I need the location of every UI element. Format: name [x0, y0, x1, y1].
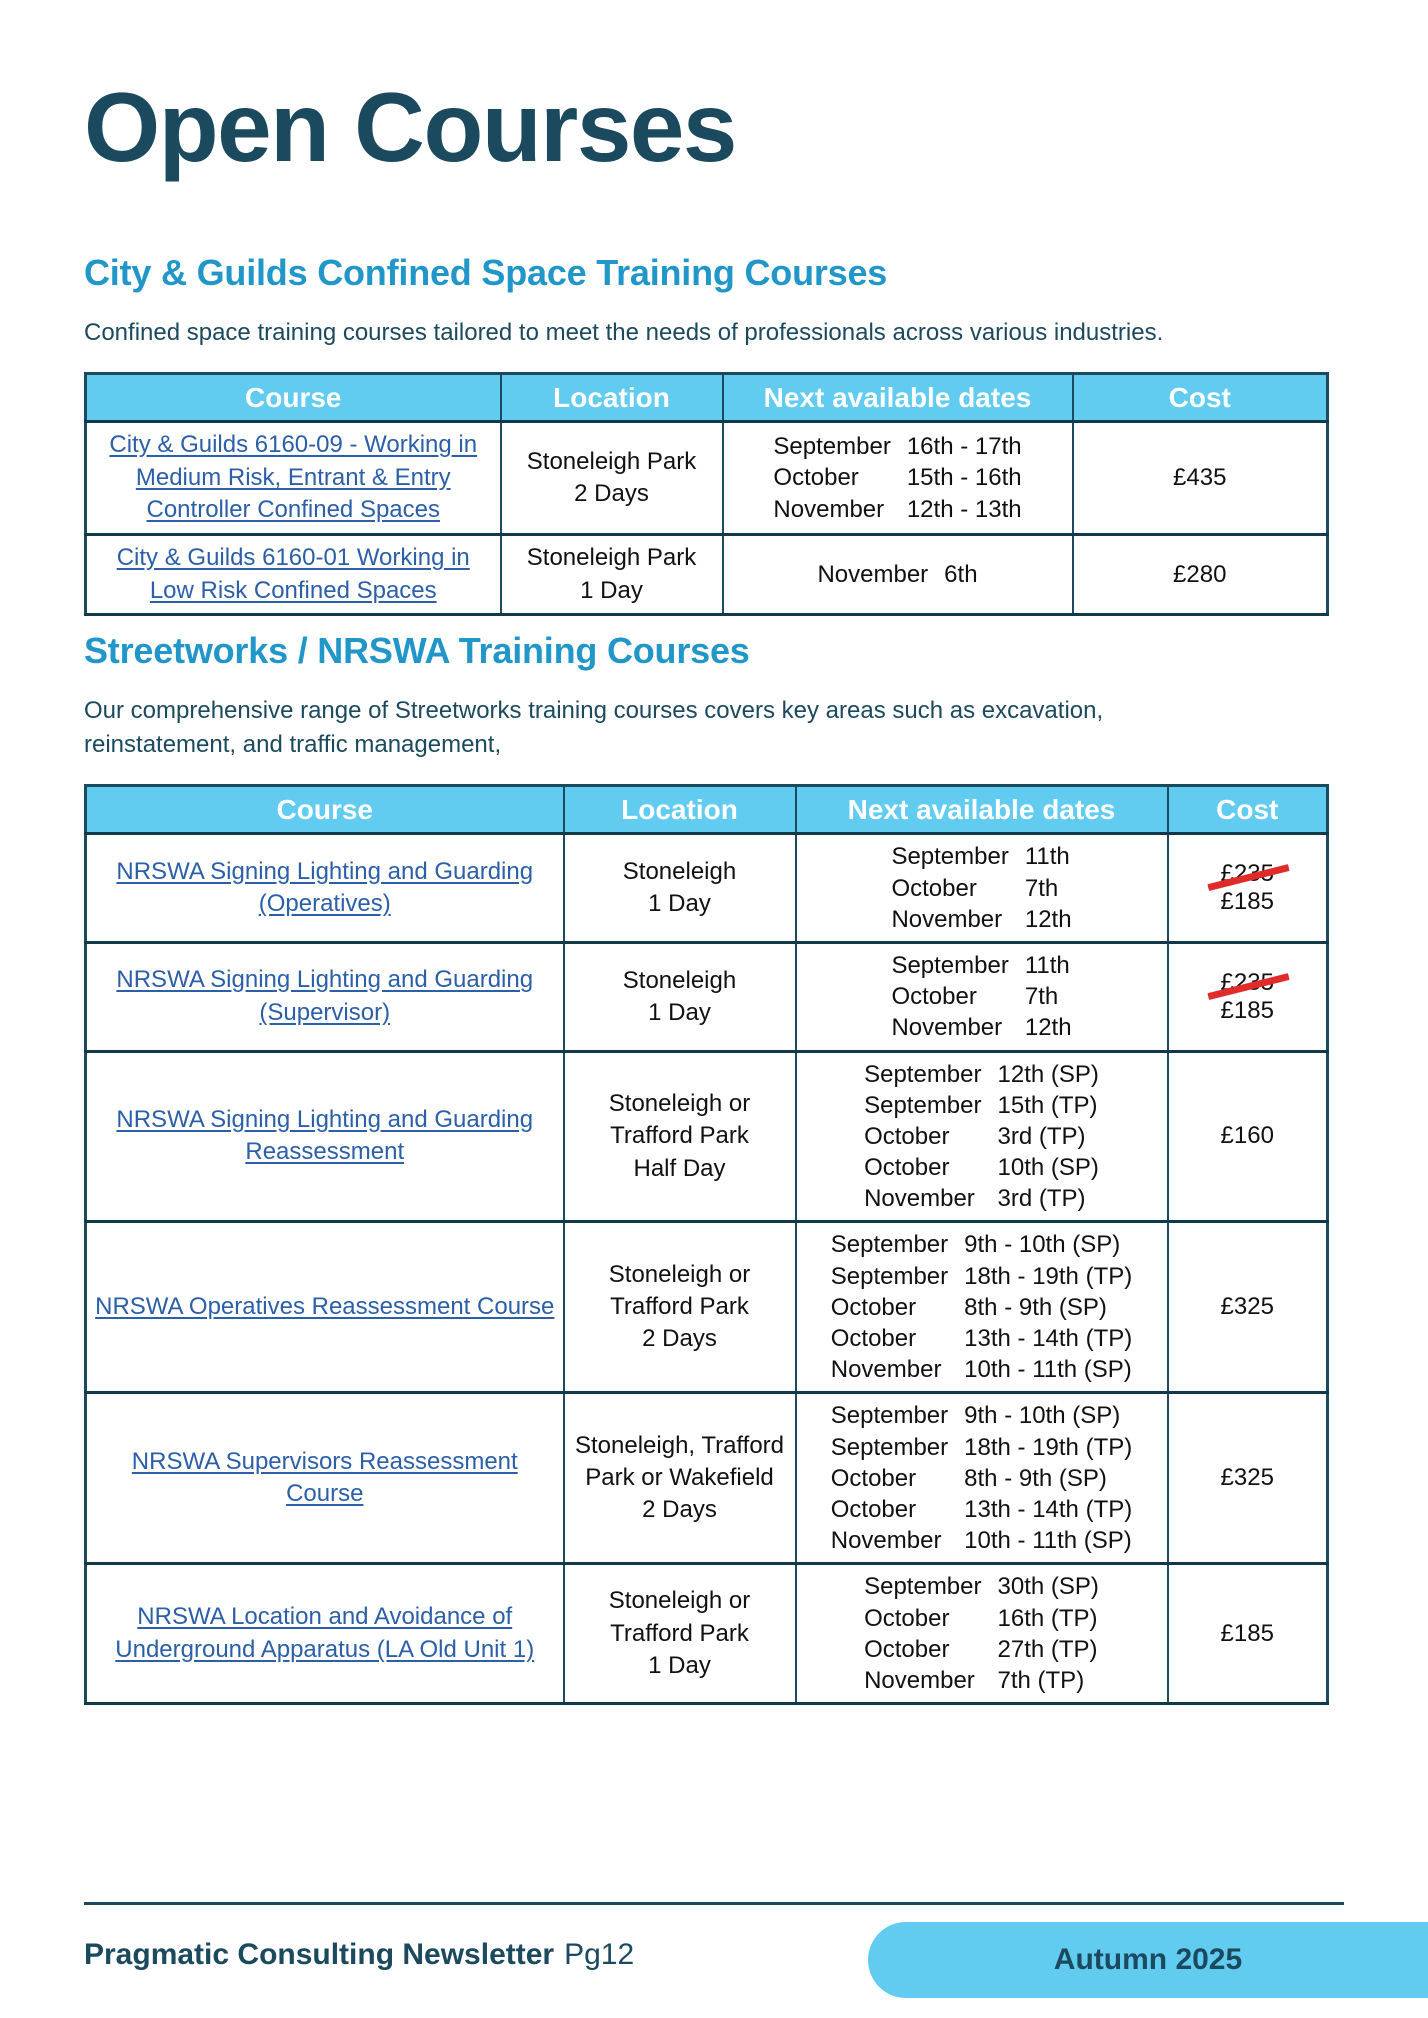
course-link[interactable]: NRSWA Location and Avoidance of Undergro… — [95, 1601, 555, 1666]
date-month: November — [831, 1525, 948, 1556]
date-month: November — [817, 559, 928, 590]
date-day: 18th - 19th (TP) — [964, 1432, 1132, 1463]
location-cell: Stoneleigh 1 Day — [564, 942, 796, 1051]
cost-cell: £325 — [1168, 1393, 1328, 1564]
column-header-course: Course — [86, 786, 564, 834]
location-cell: Stoneleigh or Trafford Park 1 Day — [564, 1564, 796, 1704]
dates-list: September11thOctober7thNovember12th — [891, 950, 1071, 1044]
table-header-row: Course Location Next available dates Cos… — [86, 374, 1328, 422]
date-month: October — [831, 1463, 948, 1494]
course-link[interactable]: NRSWA Signing Lighting and Guarding (Sup… — [95, 964, 555, 1029]
date-day: 8th - 9th (SP) — [964, 1292, 1132, 1323]
date-month: October — [864, 1152, 981, 1183]
date-month: November — [864, 1665, 981, 1696]
date-month: November — [864, 1183, 981, 1214]
course-cell: NRSWA Operatives Reassessment Course — [86, 1222, 564, 1393]
cost-cell: £235£185 — [1168, 942, 1328, 1051]
date-day: 12th - 13th — [907, 494, 1022, 525]
dates-cell: September12th (SP)September15th (TP)Octo… — [796, 1051, 1168, 1222]
discounted-price: £185 — [1177, 997, 1319, 1025]
date-day: 12th (SP) — [998, 1059, 1099, 1090]
cost-cell: £160 — [1168, 1051, 1328, 1222]
dates-list: September30th (SP)October16th (TP)Octobe… — [864, 1571, 1099, 1696]
date-day: 27th (TP) — [998, 1634, 1099, 1665]
section-intro: Confined space training courses tailored… — [84, 316, 1214, 350]
cost-cell: £280 — [1073, 534, 1328, 614]
location-cell: Stoneleigh or Trafford Park 2 Days — [564, 1222, 796, 1393]
table-row: City & Guilds 6160-01 Working in Low Ris… — [86, 534, 1328, 614]
discounted-price: £185 — [1177, 888, 1319, 916]
column-header-cost: Cost — [1168, 786, 1328, 834]
date-day: 9th - 10th (SP) — [964, 1400, 1132, 1431]
location-cell: Stoneleigh Park 1 Day — [501, 534, 723, 614]
course-cell: NRSWA Location and Avoidance of Undergro… — [86, 1564, 564, 1704]
location-cell: Stoneleigh Park 2 Days — [501, 422, 723, 535]
dates-cell: September9th - 10th (SP)September18th - … — [796, 1393, 1168, 1564]
date-day: 13th - 14th (TP) — [964, 1494, 1132, 1525]
date-day: 3rd (TP) — [998, 1183, 1099, 1214]
page-number: Pg12 — [564, 1938, 634, 1971]
date-month: October — [773, 462, 890, 493]
date-month: October — [864, 1634, 981, 1665]
dates-list: September11thOctober7thNovember12th — [891, 841, 1071, 935]
course-cell: City & Guilds 6160-09 - Working in Mediu… — [86, 422, 501, 535]
section-heading: City & Guilds Confined Space Training Co… — [84, 252, 1344, 294]
section-streetworks: Streetworks / NRSWA Training Courses Our… — [84, 630, 1344, 1705]
date-month: October — [891, 873, 1008, 904]
table-row: NRSWA Operatives Reassessment CourseSton… — [86, 1222, 1328, 1393]
date-day: 10th - 11th (SP) — [964, 1525, 1132, 1556]
table-row: NRSWA Signing Lighting and Guarding Reas… — [86, 1051, 1328, 1222]
date-month: November — [831, 1354, 948, 1385]
date-month: October — [831, 1494, 948, 1525]
course-link[interactable]: City & Guilds 6160-09 - Working in Mediu… — [95, 429, 492, 527]
section-heading: Streetworks / NRSWA Training Courses — [84, 630, 1344, 672]
dates-list: September16th - 17thOctober15th - 16thNo… — [773, 431, 1021, 525]
date-day: 12th — [1025, 904, 1072, 935]
date-day: 10th (SP) — [998, 1152, 1099, 1183]
course-link[interactable]: City & Guilds 6160-01 Working in Low Ris… — [95, 542, 492, 607]
course-link[interactable]: NRSWA Signing Lighting and Guarding Reas… — [95, 1104, 555, 1169]
table-body: City & Guilds 6160-09 - Working in Mediu… — [86, 422, 1328, 615]
dates-cell: September11thOctober7thNovember12th — [796, 942, 1168, 1051]
column-header-location: Location — [501, 374, 723, 422]
streetworks-courses-table: Course Location Next available dates Cos… — [84, 784, 1329, 1705]
course-link[interactable]: NRSWA Signing Lighting and Guarding (Ope… — [95, 856, 555, 921]
column-header-course: Course — [86, 374, 501, 422]
newsletter-name: Pragmatic Consulting Newsletter — [84, 1938, 554, 1971]
strikethrough-line — [1207, 973, 1290, 1000]
column-header-cost: Cost — [1073, 374, 1328, 422]
strikethrough-line — [1207, 864, 1290, 891]
footer-divider — [84, 1902, 1344, 1905]
price: £160 — [1221, 1122, 1274, 1149]
price: £280 — [1173, 561, 1226, 588]
issue-label: Autumn 2025 — [1054, 1943, 1242, 1977]
section-confined-space: City & Guilds Confined Space Training Co… — [84, 252, 1344, 616]
original-price: £235 — [1221, 969, 1274, 997]
location-cell: Stoneleigh or Trafford Park Half Day — [564, 1051, 796, 1222]
date-day: 16th (TP) — [998, 1603, 1099, 1634]
date-month: September — [864, 1090, 981, 1121]
table-row: NRSWA Signing Lighting and Guarding (Sup… — [86, 942, 1328, 1051]
date-month: September — [891, 950, 1008, 981]
location-cell: Stoneleigh, Trafford Park or Wakefield 2… — [564, 1393, 796, 1564]
column-header-location: Location — [564, 786, 796, 834]
date-day: 6th — [944, 559, 977, 590]
date-day: 30th (SP) — [998, 1571, 1099, 1602]
price: £185 — [1221, 1620, 1274, 1647]
location-cell: Stoneleigh 1 Day — [564, 834, 796, 943]
date-month: October — [891, 981, 1008, 1012]
dates-list: November6th — [817, 559, 977, 590]
table-row: NRSWA Supervisors Reassessment CourseSto… — [86, 1393, 1328, 1564]
dates-cell: September9th - 10th (SP)September18th - … — [796, 1222, 1168, 1393]
newsletter-page: Open Courses City & Guilds Confined Spac… — [0, 0, 1428, 2018]
date-day: 11th — [1025, 950, 1072, 981]
date-month: September — [864, 1571, 981, 1602]
date-day: 16th - 17th — [907, 431, 1022, 462]
table-row: NRSWA Signing Lighting and Guarding (Ope… — [86, 834, 1328, 943]
date-day: 11th — [1025, 841, 1072, 872]
date-month: November — [891, 904, 1008, 935]
column-header-dates: Next available dates — [796, 786, 1168, 834]
date-month: September — [773, 431, 890, 462]
date-day: 18th - 19th (TP) — [964, 1261, 1132, 1292]
date-month: September — [831, 1432, 948, 1463]
section-intro: Our comprehensive range of Streetworks t… — [84, 694, 1214, 762]
dates-list: September9th - 10th (SP)September18th - … — [831, 1400, 1132, 1556]
date-day: 7th — [1025, 981, 1072, 1012]
course-cell: City & Guilds 6160-01 Working in Low Ris… — [86, 534, 501, 614]
course-cell: NRSWA Signing Lighting and Guarding (Ope… — [86, 834, 564, 943]
price: £325 — [1221, 1464, 1274, 1491]
date-month: November — [891, 1012, 1008, 1043]
course-cell: NRSWA Supervisors Reassessment Course — [86, 1393, 564, 1564]
date-day: 10th - 11th (SP) — [964, 1354, 1132, 1385]
original-price: £235 — [1221, 860, 1274, 888]
date-month: November — [773, 494, 890, 525]
price: £435 — [1173, 464, 1226, 491]
course-cell: NRSWA Signing Lighting and Guarding Reas… — [86, 1051, 564, 1222]
date-month: September — [891, 841, 1008, 872]
cost-cell: £235£185 — [1168, 834, 1328, 943]
date-day: 15th (TP) — [998, 1090, 1099, 1121]
table-header-row: Course Location Next available dates Cos… — [86, 786, 1328, 834]
dates-list: September9th - 10th (SP)September18th - … — [831, 1229, 1132, 1385]
date-day: 15th - 16th — [907, 462, 1022, 493]
issue-badge: Autumn 2025 — [868, 1922, 1428, 1998]
date-month: September — [831, 1229, 948, 1260]
table-row: City & Guilds 6160-09 - Working in Mediu… — [86, 422, 1328, 535]
column-header-dates: Next available dates — [723, 374, 1073, 422]
date-day: 7th — [1025, 873, 1072, 904]
dates-cell: November6th — [723, 534, 1073, 614]
course-link[interactable]: NRSWA Operatives Reassessment Course — [95, 1291, 554, 1324]
price: £325 — [1221, 1293, 1274, 1320]
page-title: Open Courses — [84, 78, 1344, 178]
date-month: September — [864, 1059, 981, 1090]
dates-cell: September11thOctober7thNovember12th — [796, 834, 1168, 943]
date-month: October — [831, 1323, 948, 1354]
date-month: October — [831, 1292, 948, 1323]
cost-cell: £325 — [1168, 1222, 1328, 1393]
page-footer: Pragmatic Consulting NewsletterPg12 Autu… — [0, 1902, 1428, 2018]
cost-cell: £435 — [1073, 422, 1328, 535]
dates-cell: September30th (SP)October16th (TP)Octobe… — [796, 1564, 1168, 1704]
date-day: 8th - 9th (SP) — [964, 1463, 1132, 1494]
cost-cell: £185 — [1168, 1564, 1328, 1704]
table-body: NRSWA Signing Lighting and Guarding (Ope… — [86, 834, 1328, 1704]
date-day: 9th - 10th (SP) — [964, 1229, 1132, 1260]
date-day: 7th (TP) — [998, 1665, 1099, 1696]
date-day: 3rd (TP) — [998, 1121, 1099, 1152]
date-day: 12th — [1025, 1012, 1072, 1043]
course-cell: NRSWA Signing Lighting and Guarding (Sup… — [86, 942, 564, 1051]
dates-cell: September16th - 17thOctober15th - 16thNo… — [723, 422, 1073, 535]
confined-space-courses-table: Course Location Next available dates Cos… — [84, 372, 1329, 616]
date-month: September — [831, 1400, 948, 1431]
date-month: October — [864, 1121, 981, 1152]
footer-newsletter-title: Pragmatic Consulting NewsletterPg12 — [84, 1938, 634, 1972]
date-day: 13th - 14th (TP) — [964, 1323, 1132, 1354]
course-link[interactable]: NRSWA Supervisors Reassessment Course — [95, 1446, 555, 1511]
dates-list: September12th (SP)September15th (TP)Octo… — [864, 1059, 1099, 1215]
date-month: September — [831, 1261, 948, 1292]
table-row: NRSWA Location and Avoidance of Undergro… — [86, 1564, 1328, 1704]
date-month: October — [864, 1603, 981, 1634]
